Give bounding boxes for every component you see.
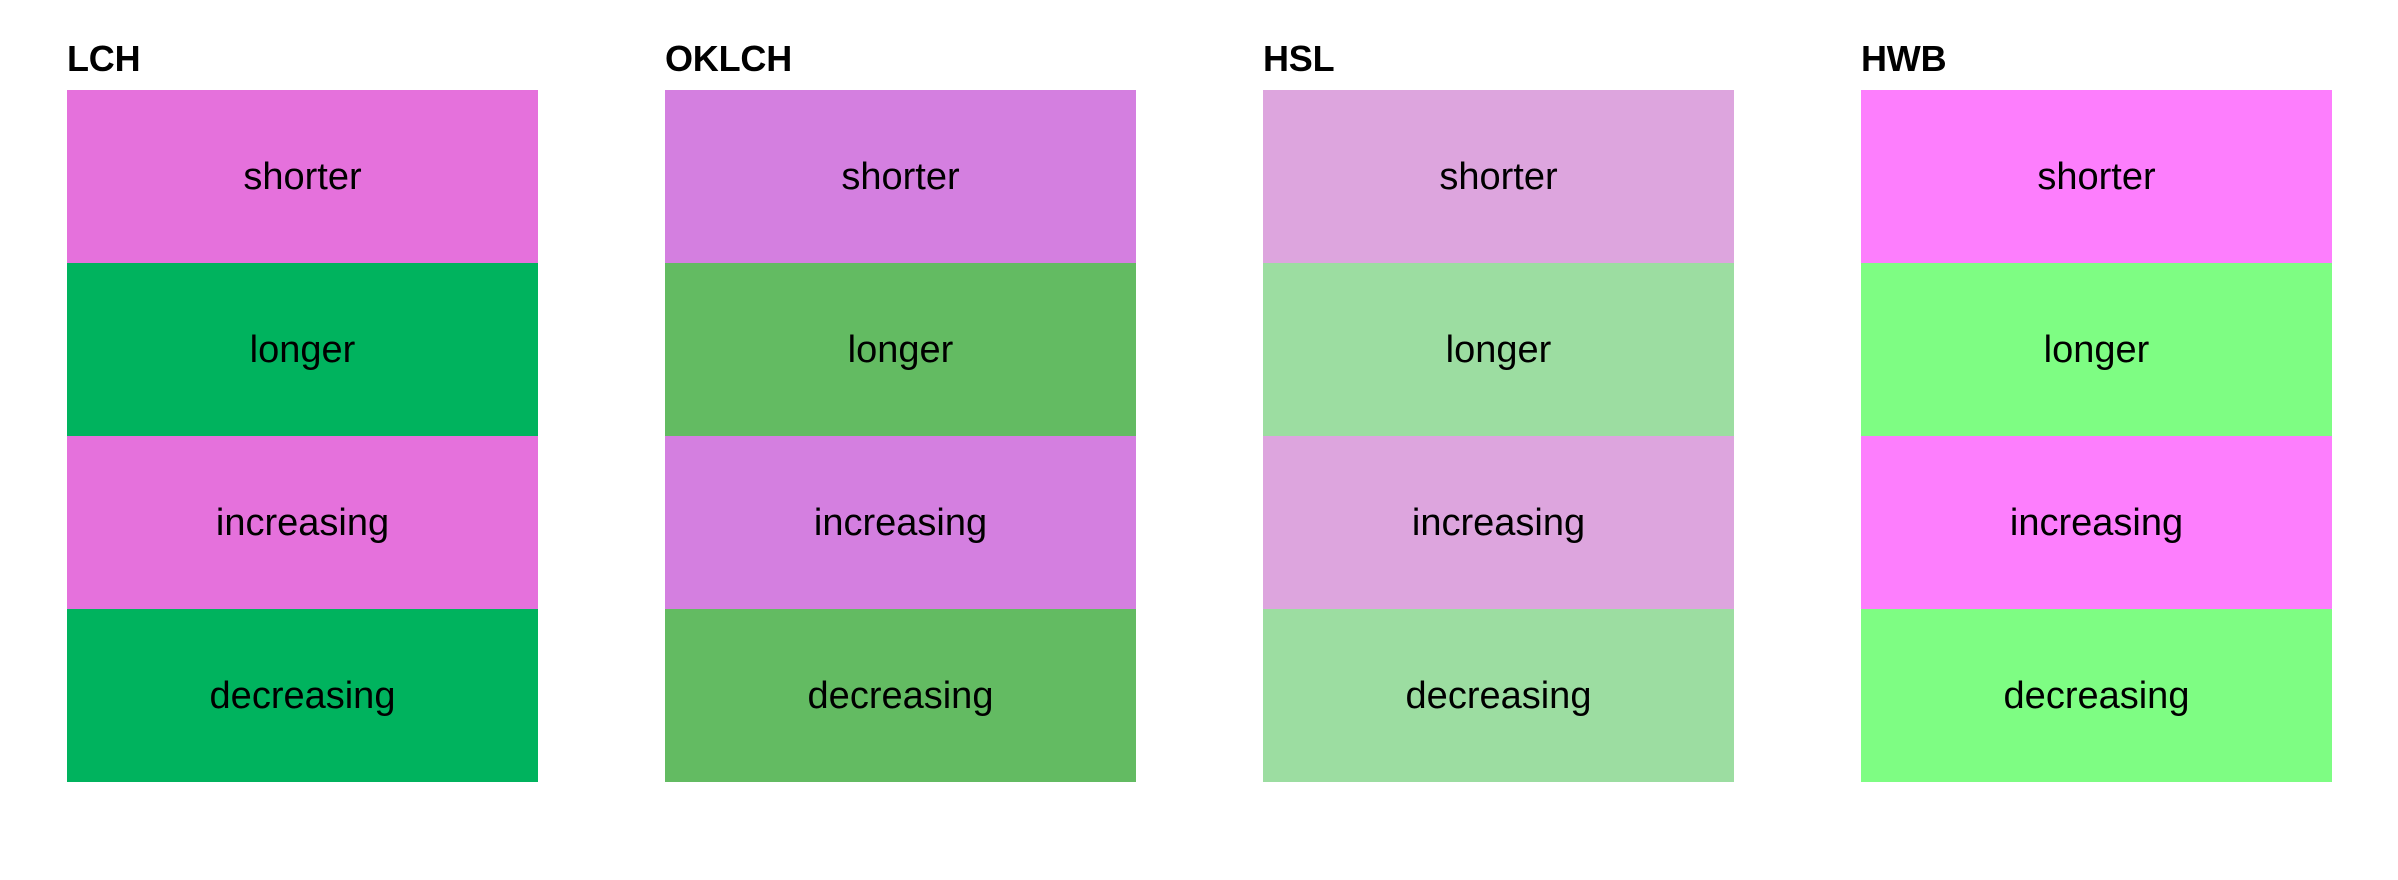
swatch-label: decreasing bbox=[808, 677, 994, 715]
swatch-label: increasing bbox=[216, 504, 389, 542]
swatch-hwb-increasing[interactable]: increasing bbox=[1861, 436, 2332, 609]
column-title-hsl: HSL bbox=[1263, 38, 1734, 80]
swatch-label: decreasing bbox=[1406, 677, 1592, 715]
color-space-column-hsl: HSL shorter longer increasing decreasing bbox=[1263, 38, 1734, 782]
swatch-label: longer bbox=[848, 331, 954, 369]
color-space-column-oklch: OKLCH shorter longer increasing decreasi… bbox=[665, 38, 1136, 782]
swatch-label: increasing bbox=[2010, 504, 2183, 542]
swatch-stack-hsl: shorter longer increasing decreasing bbox=[1263, 90, 1734, 782]
swatch-label: decreasing bbox=[2004, 677, 2190, 715]
swatch-lch-longer[interactable]: longer bbox=[67, 263, 538, 436]
column-title-oklch: OKLCH bbox=[665, 38, 1136, 80]
swatch-hwb-shorter[interactable]: shorter bbox=[1861, 90, 2332, 263]
swatch-lch-increasing[interactable]: increasing bbox=[67, 436, 538, 609]
swatch-label: increasing bbox=[814, 504, 987, 542]
swatch-label: longer bbox=[1446, 331, 1552, 369]
swatch-oklch-increasing[interactable]: increasing bbox=[665, 436, 1136, 609]
swatch-hsl-increasing[interactable]: increasing bbox=[1263, 436, 1734, 609]
swatch-oklch-longer[interactable]: longer bbox=[665, 263, 1136, 436]
swatch-label: longer bbox=[250, 331, 356, 369]
swatch-hsl-shorter[interactable]: shorter bbox=[1263, 90, 1734, 263]
swatch-hwb-decreasing[interactable]: decreasing bbox=[1861, 609, 2332, 782]
swatch-stack-hwb: shorter longer increasing decreasing bbox=[1861, 90, 2332, 782]
swatch-lch-decreasing[interactable]: decreasing bbox=[67, 609, 538, 782]
swatch-hsl-decreasing[interactable]: decreasing bbox=[1263, 609, 1734, 782]
swatch-label: shorter bbox=[841, 158, 959, 196]
swatch-label: shorter bbox=[243, 158, 361, 196]
swatch-hwb-longer[interactable]: longer bbox=[1861, 263, 2332, 436]
swatch-oklch-shorter[interactable]: shorter bbox=[665, 90, 1136, 263]
swatch-stack-lch: shorter longer increasing decreasing bbox=[67, 90, 538, 782]
swatch-stack-oklch: shorter longer increasing decreasing bbox=[665, 90, 1136, 782]
swatch-label: longer bbox=[2044, 331, 2150, 369]
swatch-hsl-longer[interactable]: longer bbox=[1263, 263, 1734, 436]
column-title-lch: LCH bbox=[67, 38, 538, 80]
color-space-column-hwb: HWB shorter longer increasing decreasing bbox=[1861, 38, 2332, 782]
swatch-oklch-decreasing[interactable]: decreasing bbox=[665, 609, 1136, 782]
column-title-hwb: HWB bbox=[1861, 38, 2332, 80]
color-space-columns: LCH shorter longer increasing decreasing… bbox=[0, 0, 2398, 782]
color-space-column-lch: LCH shorter longer increasing decreasing bbox=[67, 38, 538, 782]
swatch-label: shorter bbox=[1439, 158, 1557, 196]
swatch-label: decreasing bbox=[210, 677, 396, 715]
swatch-label: increasing bbox=[1412, 504, 1585, 542]
swatch-label: shorter bbox=[2037, 158, 2155, 196]
swatch-lch-shorter[interactable]: shorter bbox=[67, 90, 538, 263]
swatch-board: LCH shorter longer increasing decreasing… bbox=[0, 0, 2398, 880]
